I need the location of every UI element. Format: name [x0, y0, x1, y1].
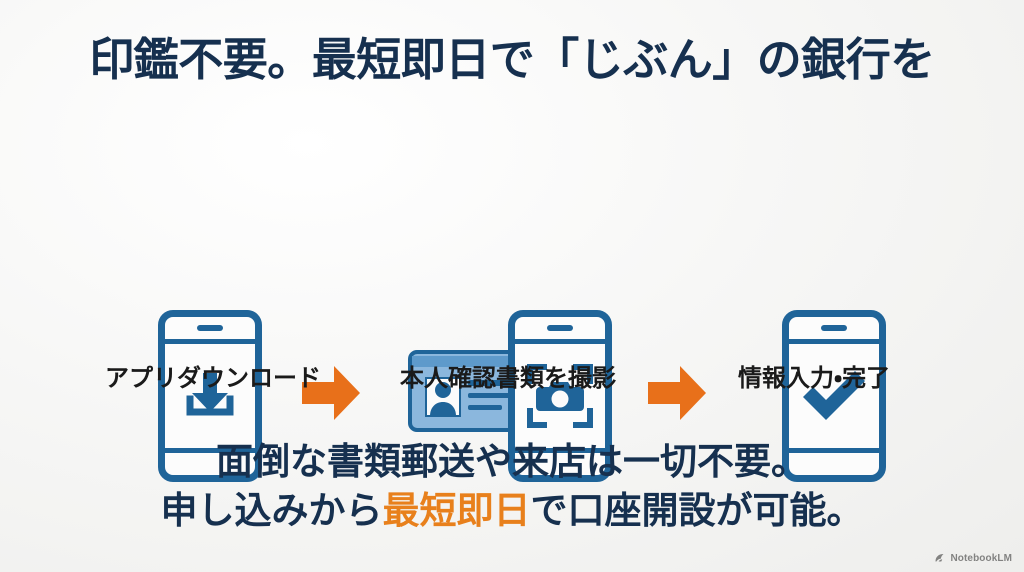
onboarding-flow-diagram [0, 150, 1024, 340]
phone-speaker-icon [197, 325, 223, 331]
phone-speaker-icon [547, 325, 573, 331]
bottom-message: 面倒な書類郵送や来店は一切不要。 申し込みから最短即日で口座開設が可能。 [0, 437, 1024, 535]
notebooklm-watermark-label: NotebookLM [950, 553, 1012, 564]
page-title: 印鑑不要。最短即日で「じぶん」の銀行を [0, 34, 1024, 86]
bottom-message-line1-text: 面倒な書類郵送や来店は一切不要。 [216, 441, 808, 482]
bottom-message-highlight: 最短即日 [383, 490, 531, 531]
bottom-message-line2-after: で口座開設が可能。 [531, 490, 864, 531]
bottom-message-line2-before: 申し込みから [161, 490, 383, 531]
step-caption-id-photo: 本人確認書類を撮影 [400, 358, 616, 393]
step-caption-info-complete: 情報入力・完了 [738, 358, 890, 393]
notebooklm-icon [934, 552, 946, 564]
notebooklm-watermark: NotebookLM [934, 552, 1012, 564]
step-caption-app-download: アプリダウンロード [105, 358, 321, 393]
bottom-message-line-2: 申し込みから最短即日で口座開設が可能。 [0, 486, 1024, 535]
phone-speaker-icon [821, 325, 847, 331]
slide-canvas: 印鑑不要。最短即日で「じぶん」の銀行を [0, 0, 1024, 572]
arrow-right-icon [648, 362, 706, 424]
bottom-message-line-1: 面倒な書類郵送や来店は一切不要。 [0, 437, 1024, 486]
